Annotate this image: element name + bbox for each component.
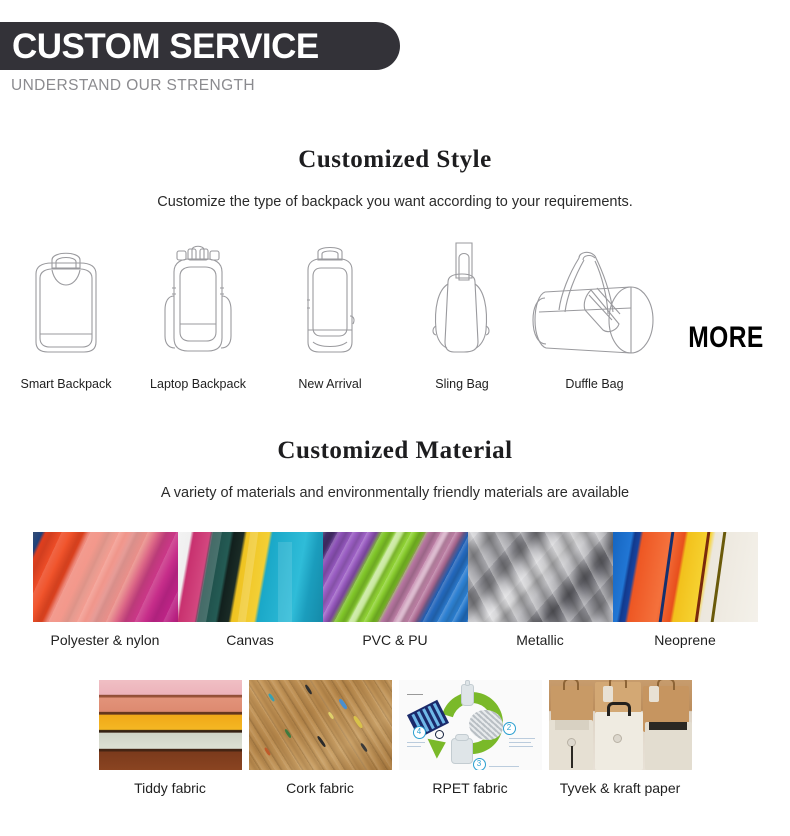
page-title: CUSTOM SERVICE bbox=[12, 29, 319, 64]
cork-fabric-swatch bbox=[249, 680, 392, 770]
style-item-laptop-backpack[interactable]: Laptop Backpack bbox=[132, 238, 264, 391]
style-item-label: New Arrival bbox=[298, 377, 361, 391]
style-item-sling-bag[interactable]: Sling Bag bbox=[396, 238, 528, 391]
material-item-neoprene[interactable]: Neoprene bbox=[613, 532, 758, 648]
neoprene-swatch bbox=[613, 532, 758, 622]
duffle-bag-icon bbox=[527, 238, 662, 363]
material-item-metallic[interactable]: Metallic bbox=[468, 532, 613, 648]
more-label: MORE bbox=[688, 321, 763, 355]
more-button[interactable]: MORE bbox=[661, 321, 790, 391]
customized-material-title: Customized Material bbox=[0, 437, 790, 465]
material-item-label: Neoprene bbox=[654, 632, 716, 648]
style-items-row: Smart Backpack bbox=[0, 238, 790, 391]
material-item-label: Canvas bbox=[226, 632, 273, 648]
material-item-label: Tyvek & kraft paper bbox=[560, 780, 681, 796]
material-item-pvc-pu[interactable]: PVC & PU bbox=[323, 532, 468, 648]
laptop-backpack-icon bbox=[148, 238, 248, 363]
polyester-nylon-swatch bbox=[33, 532, 178, 622]
style-item-label: Laptop Backpack bbox=[150, 377, 246, 391]
material-item-label: Cork fabric bbox=[286, 780, 354, 796]
material-item-label: Polyester & nylon bbox=[51, 632, 160, 648]
rpet-fabric-swatch: 2 3 4 bbox=[399, 680, 542, 770]
material-item-rpet-fabric[interactable]: 2 3 4 RPET fabric bbox=[395, 680, 545, 796]
material-item-label: PVC & PU bbox=[362, 632, 427, 648]
material-row-1: Polyester & nylon Canvas PVC & PU Metall… bbox=[0, 532, 790, 648]
canvas-swatch bbox=[178, 532, 323, 622]
material-item-tiddy-fabric[interactable]: Tiddy fabric bbox=[95, 680, 245, 796]
custom-service-page: CUSTOM SERVICE UNDERSTAND OUR STRENGTH C… bbox=[0, 0, 790, 836]
rpet-step-3-badge: 3 bbox=[473, 758, 486, 770]
customized-material-subtitle: A variety of materials and environmental… bbox=[0, 485, 790, 501]
rpet-step-2-badge: 2 bbox=[503, 722, 516, 735]
style-item-label: Duffle Bag bbox=[565, 377, 623, 391]
customized-style-subtitle: Customize the type of backpack you want … bbox=[0, 194, 790, 210]
smart-backpack-icon bbox=[16, 238, 116, 363]
style-item-label: Smart Backpack bbox=[20, 377, 111, 391]
tiddy-fabric-swatch bbox=[99, 680, 242, 770]
material-item-tyvek-kraft-paper[interactable]: Tyvek & kraft paper bbox=[545, 680, 695, 796]
new-arrival-backpack-icon bbox=[280, 238, 380, 363]
style-item-new-arrival[interactable]: New Arrival bbox=[264, 238, 396, 391]
pvc-pu-swatch bbox=[323, 532, 468, 622]
material-item-cork-fabric[interactable]: Cork fabric bbox=[245, 680, 395, 796]
customized-style-title: Customized Style bbox=[0, 146, 790, 174]
material-item-canvas[interactable]: Canvas bbox=[178, 532, 323, 648]
sling-bag-icon bbox=[412, 238, 512, 363]
style-item-duffle-bag[interactable]: Duffle Bag bbox=[528, 238, 661, 391]
material-item-label: RPET fabric bbox=[432, 780, 507, 796]
tyvek-kraft-paper-swatch bbox=[549, 680, 692, 770]
style-item-label: Sling Bag bbox=[435, 377, 489, 391]
material-row-2: Tiddy fabric Cork fabric bbox=[0, 680, 790, 796]
metallic-swatch bbox=[468, 532, 613, 622]
material-item-polyester-nylon[interactable]: Polyester & nylon bbox=[33, 532, 178, 648]
rpet-step-4-badge: 4 bbox=[413, 726, 426, 739]
material-item-label: Metallic bbox=[516, 632, 563, 648]
material-item-label: Tiddy fabric bbox=[134, 780, 206, 796]
header-banner: CUSTOM SERVICE bbox=[0, 22, 400, 70]
header-subtitle: UNDERSTAND OUR STRENGTH bbox=[11, 77, 255, 95]
style-item-smart-backpack[interactable]: Smart Backpack bbox=[0, 238, 132, 391]
